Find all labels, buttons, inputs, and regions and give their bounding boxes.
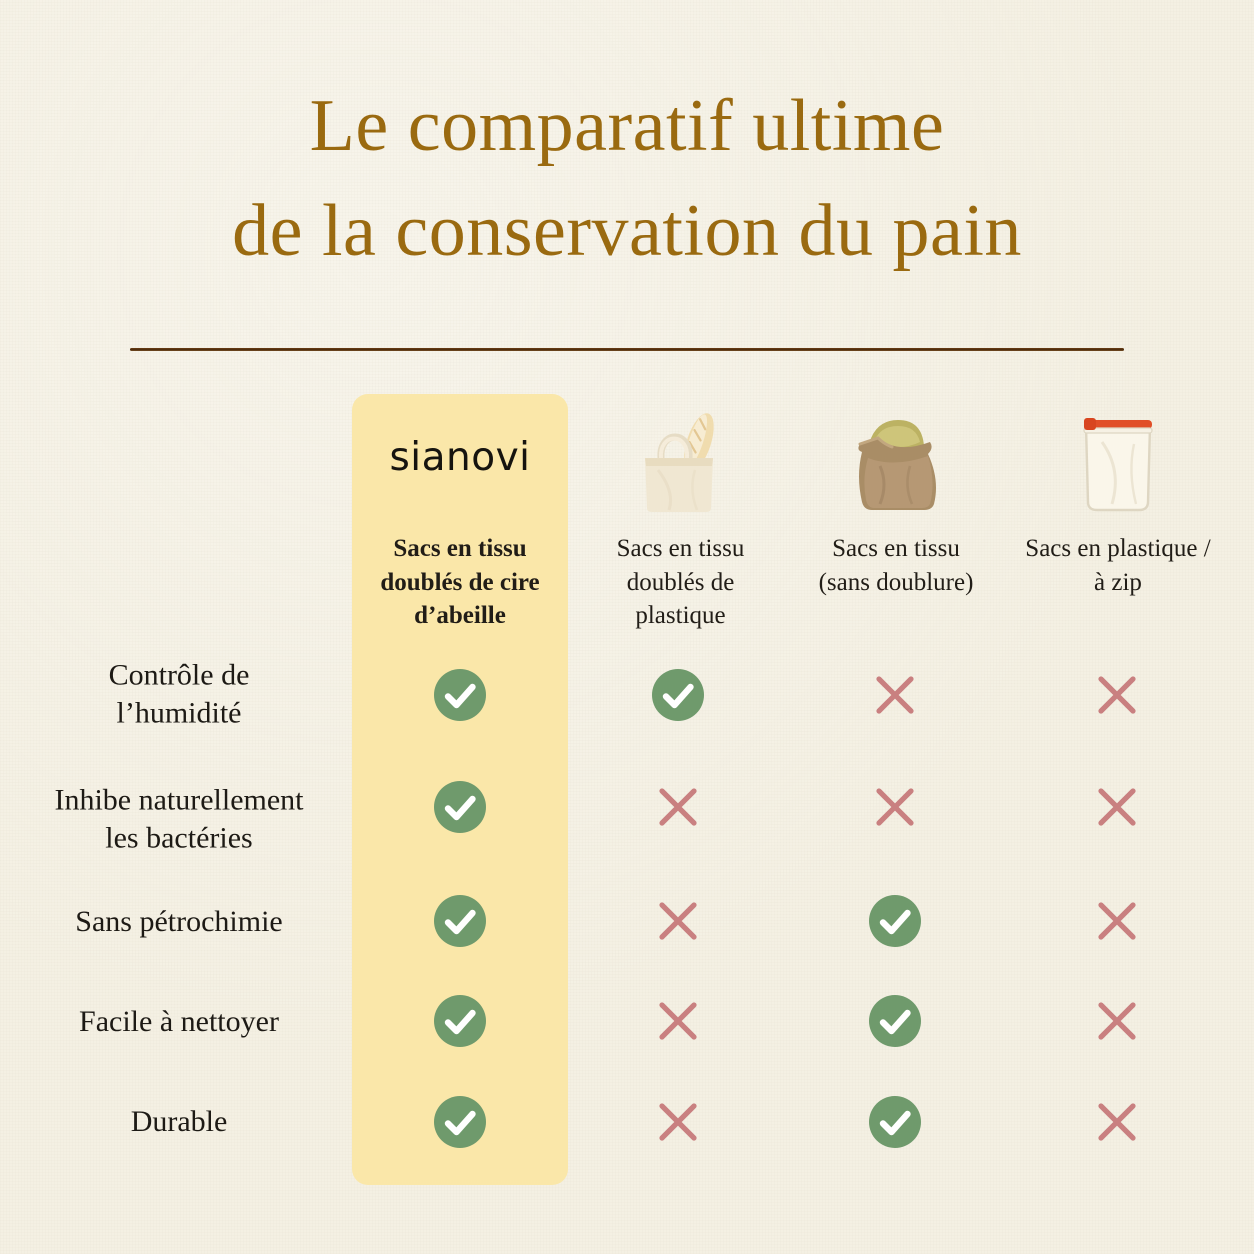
comparison-table: sianovi Sacs en tissu doublés de cire d’… — [0, 0, 1254, 1254]
cross-icon-no-petrochemicals-plastic-zip — [1090, 894, 1144, 948]
cross-icon-durable-fabric-plastic-lined — [651, 1095, 705, 1149]
cross-icon-durable-plastic-zip — [1090, 1095, 1144, 1149]
check-icon-durable-fabric-unlined — [868, 1095, 922, 1149]
cross-icon-inhibits-bacteria-plastic-zip — [1090, 780, 1144, 834]
check-icon-easy-to-clean-fabric-unlined — [868, 994, 922, 1048]
check-icon-durable-sianovi — [433, 1095, 487, 1149]
comparison-infographic: Le comparatif ultime de la conservation … — [0, 0, 1254, 1254]
cross-icon-humidity-control-fabric-unlined — [868, 668, 922, 722]
cross-icon-inhibits-bacteria-fabric-plastic-lined — [651, 780, 705, 834]
check-icon-easy-to-clean-sianovi — [433, 994, 487, 1048]
check-icon-humidity-control-sianovi — [433, 668, 487, 722]
cross-icon-humidity-control-plastic-zip — [1090, 668, 1144, 722]
cross-icon-inhibits-bacteria-fabric-unlined — [868, 780, 922, 834]
check-icon-humidity-control-fabric-plastic-lined — [651, 668, 705, 722]
marks-layer — [0, 0, 1254, 1254]
cross-icon-easy-to-clean-plastic-zip — [1090, 994, 1144, 1048]
check-icon-inhibits-bacteria-sianovi — [433, 780, 487, 834]
cross-icon-no-petrochemicals-fabric-plastic-lined — [651, 894, 705, 948]
check-icon-no-petrochemicals-sianovi — [433, 894, 487, 948]
check-icon-no-petrochemicals-fabric-unlined — [868, 894, 922, 948]
cross-icon-easy-to-clean-fabric-plastic-lined — [651, 994, 705, 1048]
